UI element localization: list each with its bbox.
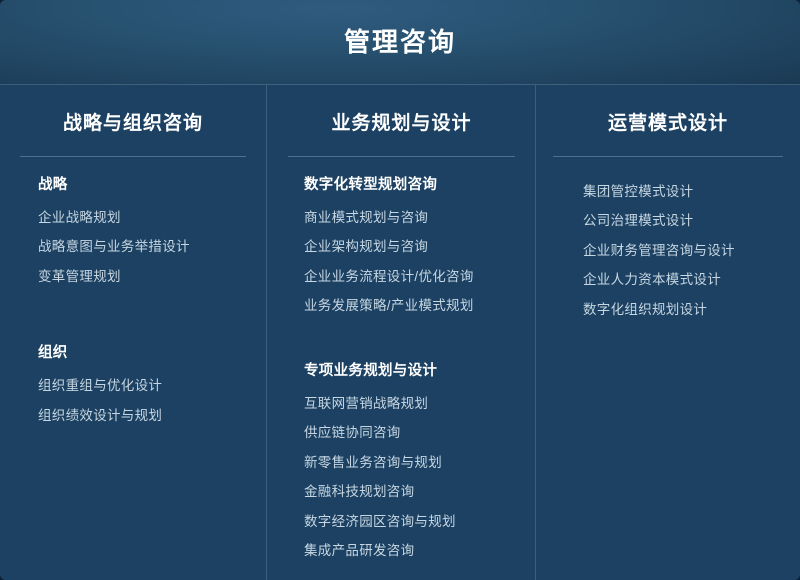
column-strategy-organization: 战略与组织咨询 战略 企业战略规划 战略意图与业务举措设计 变革管理规划 组织 … xyxy=(0,85,266,580)
group-list: 战略 企业战略规划 战略意图与业务举措设计 变革管理规划 组织 组织重组与优化设… xyxy=(20,157,246,430)
service-item[interactable]: 集成产品研发咨询 xyxy=(304,536,515,566)
column-business-planning-design: 业务规划与设计 数字化转型规划咨询 商业模式规划与咨询 企业架构规划与咨询 企业… xyxy=(266,85,535,580)
service-item[interactable]: 供应链协同咨询 xyxy=(304,418,515,448)
panel-header: 管理咨询 xyxy=(0,0,800,85)
column-title: 业务规划与设计 xyxy=(288,107,515,136)
group-title: 组织 xyxy=(38,343,246,365)
service-item[interactable]: 商业模式规划与咨询 xyxy=(304,203,515,233)
service-item[interactable]: 组织重组与优化设计 xyxy=(38,371,246,401)
service-item[interactable]: 企业业务流程设计/优化咨询 xyxy=(304,262,515,292)
service-item[interactable]: 企业财务管理咨询与设计 xyxy=(583,236,783,266)
service-item[interactable]: 业务发展策略/产业模式规划 xyxy=(304,291,515,321)
service-item-list: 商业模式规划与咨询 企业架构规划与咨询 企业业务流程设计/优化咨询 业务发展策略… xyxy=(304,203,515,321)
management-consulting-panel: 管理咨询 战略与组织咨询 战略 企业战略规划 战略意图与业务举措设计 变革管理规… xyxy=(0,0,800,580)
page-title: 管理咨询 xyxy=(344,29,456,57)
columns-container: 战略与组织咨询 战略 企业战略规划 战略意图与业务举措设计 变革管理规划 组织 … xyxy=(0,85,800,580)
service-item-list: 集团管控模式设计 公司治理模式设计 企业财务管理咨询与设计 企业人力资本模式设计… xyxy=(583,177,783,325)
group-list: 集团管控模式设计 公司治理模式设计 企业财务管理咨询与设计 企业人力资本模式设计… xyxy=(553,157,783,325)
service-item[interactable]: 新零售业务咨询与规划 xyxy=(304,448,515,478)
column-operating-model-design: 运营模式设计 集团管控模式设计 公司治理模式设计 企业财务管理咨询与设计 企业人… xyxy=(535,85,800,580)
service-item[interactable]: 变革管理规划 xyxy=(38,262,246,292)
group-title: 专项业务规划与设计 xyxy=(304,361,515,383)
service-item[interactable]: 数字化组织规划设计 xyxy=(583,295,783,325)
service-item-list: 互联网营销战略规划 供应链协同咨询 新零售业务咨询与规划 金融科技规划咨询 数字… xyxy=(304,389,515,566)
service-item[interactable]: 金融科技规划咨询 xyxy=(304,477,515,507)
service-item[interactable]: 战略意图与业务举措设计 xyxy=(38,232,246,262)
service-item-list: 组织重组与优化设计 组织绩效设计与规划 xyxy=(38,371,246,430)
service-item[interactable]: 企业战略规划 xyxy=(38,203,246,233)
group: 战略 企业战略规划 战略意图与业务举措设计 变革管理规划 xyxy=(38,175,246,291)
column-title: 运营模式设计 xyxy=(553,107,783,136)
service-item-list: 企业战略规划 战略意图与业务举措设计 变革管理规划 xyxy=(38,203,246,292)
group-list: 数字化转型规划咨询 商业模式规划与咨询 企业架构规划与咨询 企业业务流程设计/优… xyxy=(288,157,515,566)
group: 数字化转型规划咨询 商业模式规划与咨询 企业架构规划与咨询 企业业务流程设计/优… xyxy=(304,175,515,321)
service-item[interactable]: 组织绩效设计与规划 xyxy=(38,401,246,431)
group: 集团管控模式设计 公司治理模式设计 企业财务管理咨询与设计 企业人力资本模式设计… xyxy=(583,177,783,325)
service-item[interactable]: 互联网营销战略规划 xyxy=(304,389,515,419)
group-title: 数字化转型规划咨询 xyxy=(304,175,515,197)
service-item[interactable]: 数字经济园区咨询与规划 xyxy=(304,507,515,537)
group-title: 战略 xyxy=(38,175,246,197)
service-item[interactable]: 企业架构规划与咨询 xyxy=(304,232,515,262)
group: 专项业务规划与设计 互联网营销战略规划 供应链协同咨询 新零售业务咨询与规划 金… xyxy=(304,361,515,566)
service-item[interactable]: 企业人力资本模式设计 xyxy=(583,265,783,295)
service-item[interactable]: 集团管控模式设计 xyxy=(583,177,783,207)
group: 组织 组织重组与优化设计 组织绩效设计与规划 xyxy=(38,343,246,430)
service-item[interactable]: 公司治理模式设计 xyxy=(583,206,783,236)
column-title: 战略与组织咨询 xyxy=(20,107,246,136)
